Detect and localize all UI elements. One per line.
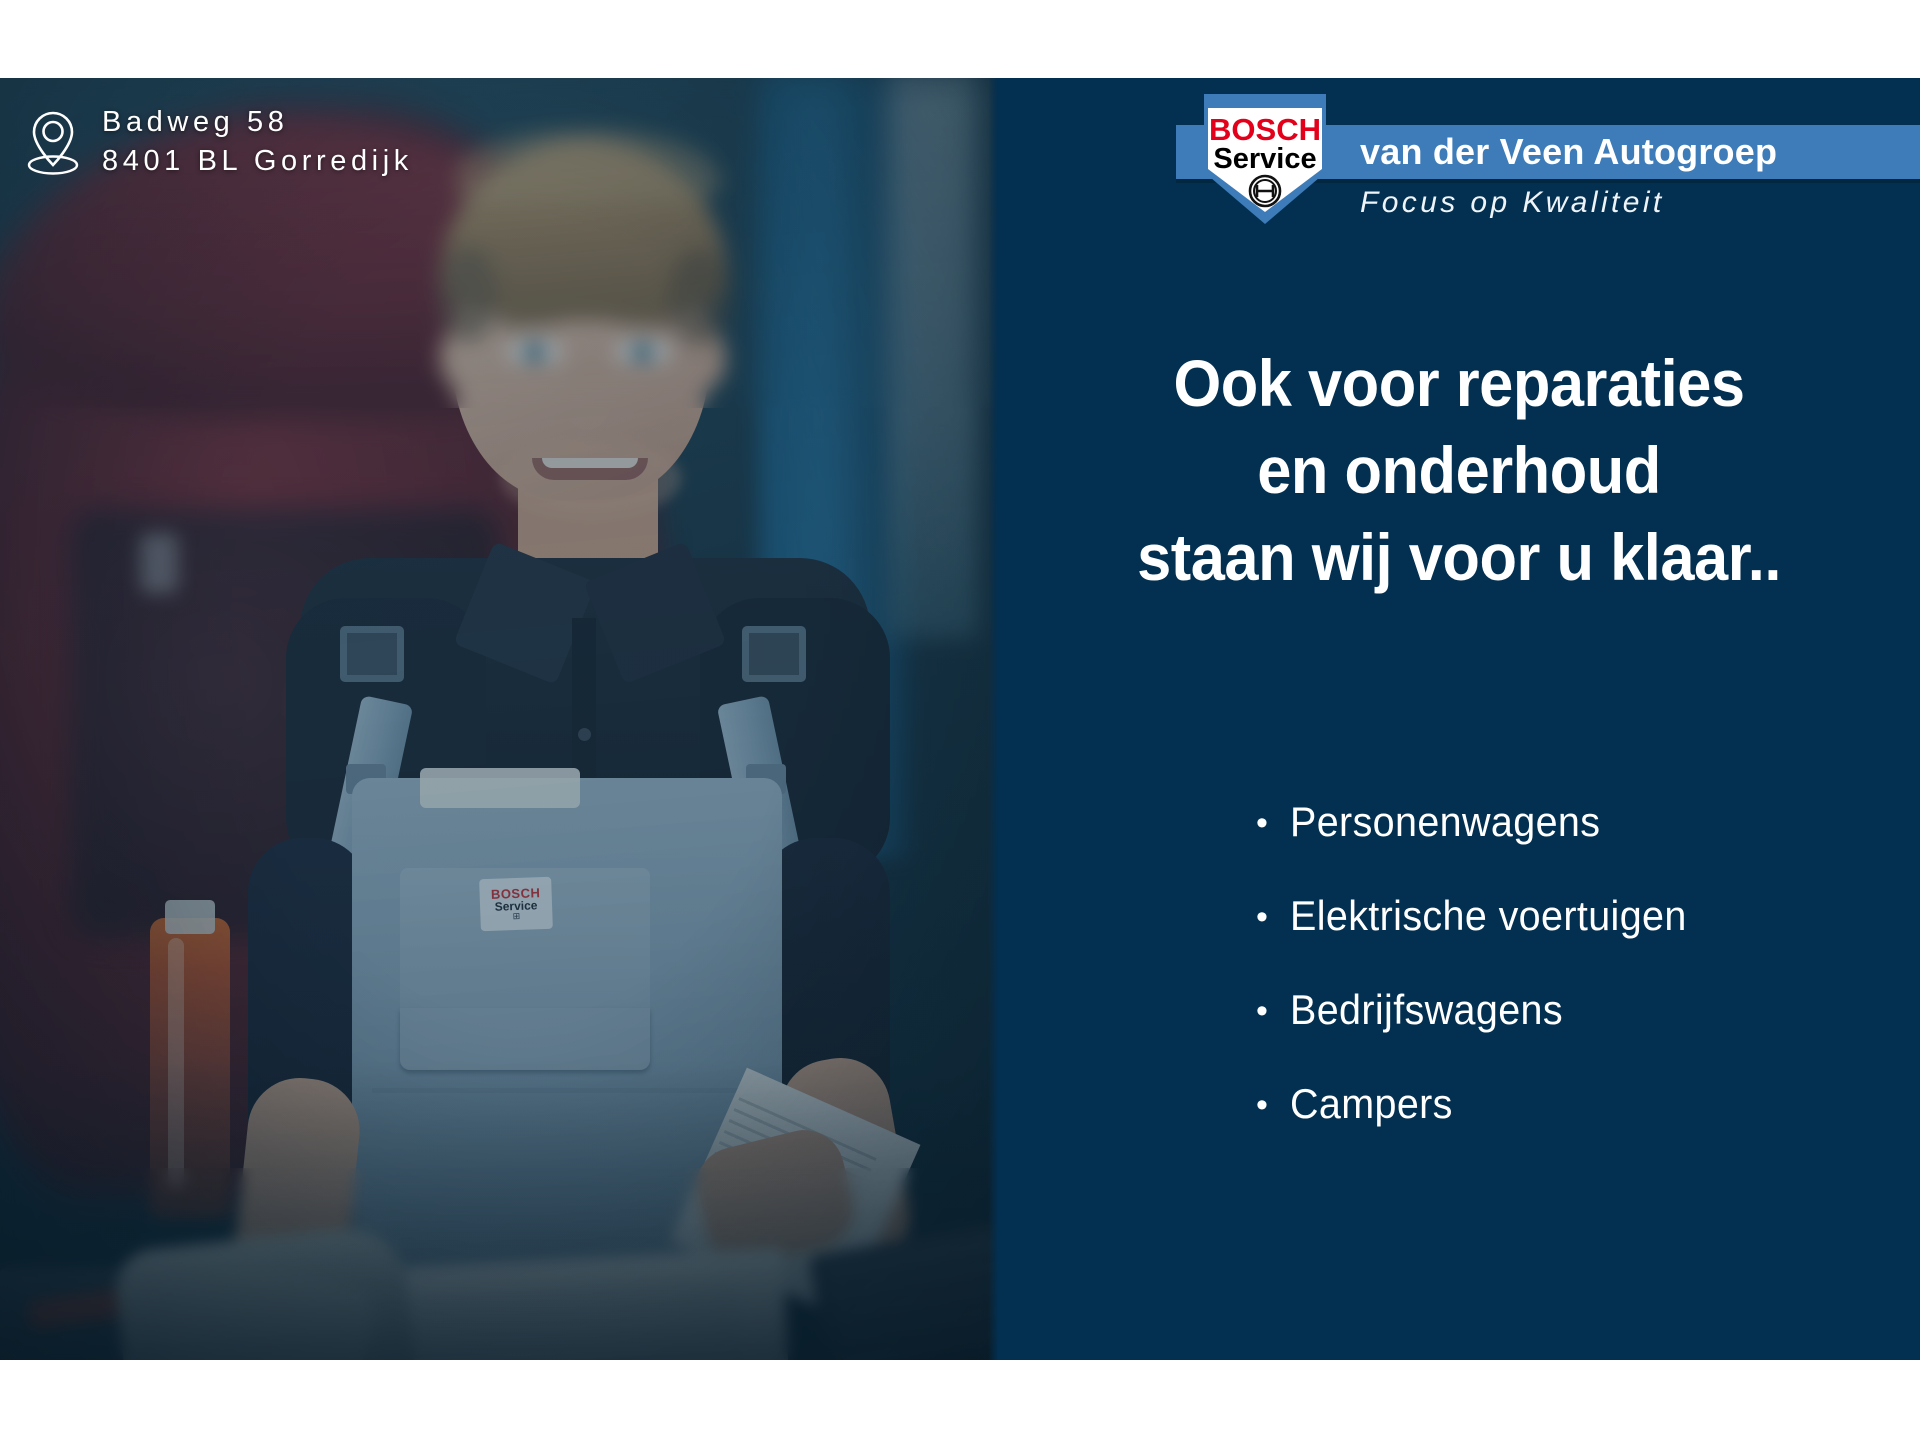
headline-line-3: staan wij voor u klaar.. (1030, 514, 1887, 601)
banner-canvas: BOSCH Service ⊞ (0, 78, 1920, 1360)
list-item: • Elektrische voertuigen (998, 892, 1920, 940)
address-city: 8401 BL Gorredijk (102, 145, 413, 178)
list-item-label: Bedrijfswagens (1290, 986, 1563, 1034)
content-panel: BOSCH Service van der Veen Autogroep Foc… (998, 78, 1920, 1360)
bullet-marker-icon: • (1256, 1088, 1268, 1122)
list-item-label: Elektrische voertuigen (1290, 892, 1687, 940)
brand-name: van der Veen Autogroep (1360, 126, 1900, 178)
headline-line-2: en onderhoud (1030, 427, 1887, 514)
bullet-marker-icon: • (1256, 994, 1268, 1028)
brand-tagline: Focus op Kwaliteit (1360, 186, 1665, 220)
address-block: Badweg 58 8401 BL Gorredijk (26, 106, 413, 178)
bullet-marker-icon: • (1256, 900, 1268, 934)
headline: Ook voor reparaties en onderhoud staan w… (1030, 340, 1887, 601)
svg-text:Service: Service (1213, 143, 1316, 175)
svg-text:BOSCH: BOSCH (1209, 112, 1321, 147)
address-lines: Badweg 58 8401 BL Gorredijk (102, 106, 413, 178)
list-item: • Personenwagens (998, 798, 1920, 846)
photo-vignette (0, 78, 998, 1360)
address-street: Badweg 58 (102, 106, 413, 139)
list-item-label: Personenwagens (1290, 798, 1600, 846)
photo-right-edge-fade (988, 78, 998, 1360)
headline-line-1: Ook voor reparaties (1030, 340, 1887, 427)
advertisement-banner: BOSCH Service ⊞ (0, 0, 1920, 1440)
list-item: • Bedrijfswagens (998, 986, 1920, 1034)
bosch-service-logo: BOSCH Service (1204, 94, 1326, 224)
mechanic-photo: BOSCH Service ⊞ (0, 78, 998, 1360)
bullet-marker-icon: • (1256, 806, 1268, 840)
list-item-label: Campers (1290, 1080, 1453, 1128)
list-item: • Campers (998, 1080, 1920, 1128)
service-list: • Personenwagens • Elektrische voertuige… (998, 798, 1920, 1174)
location-pin-icon (26, 110, 80, 176)
